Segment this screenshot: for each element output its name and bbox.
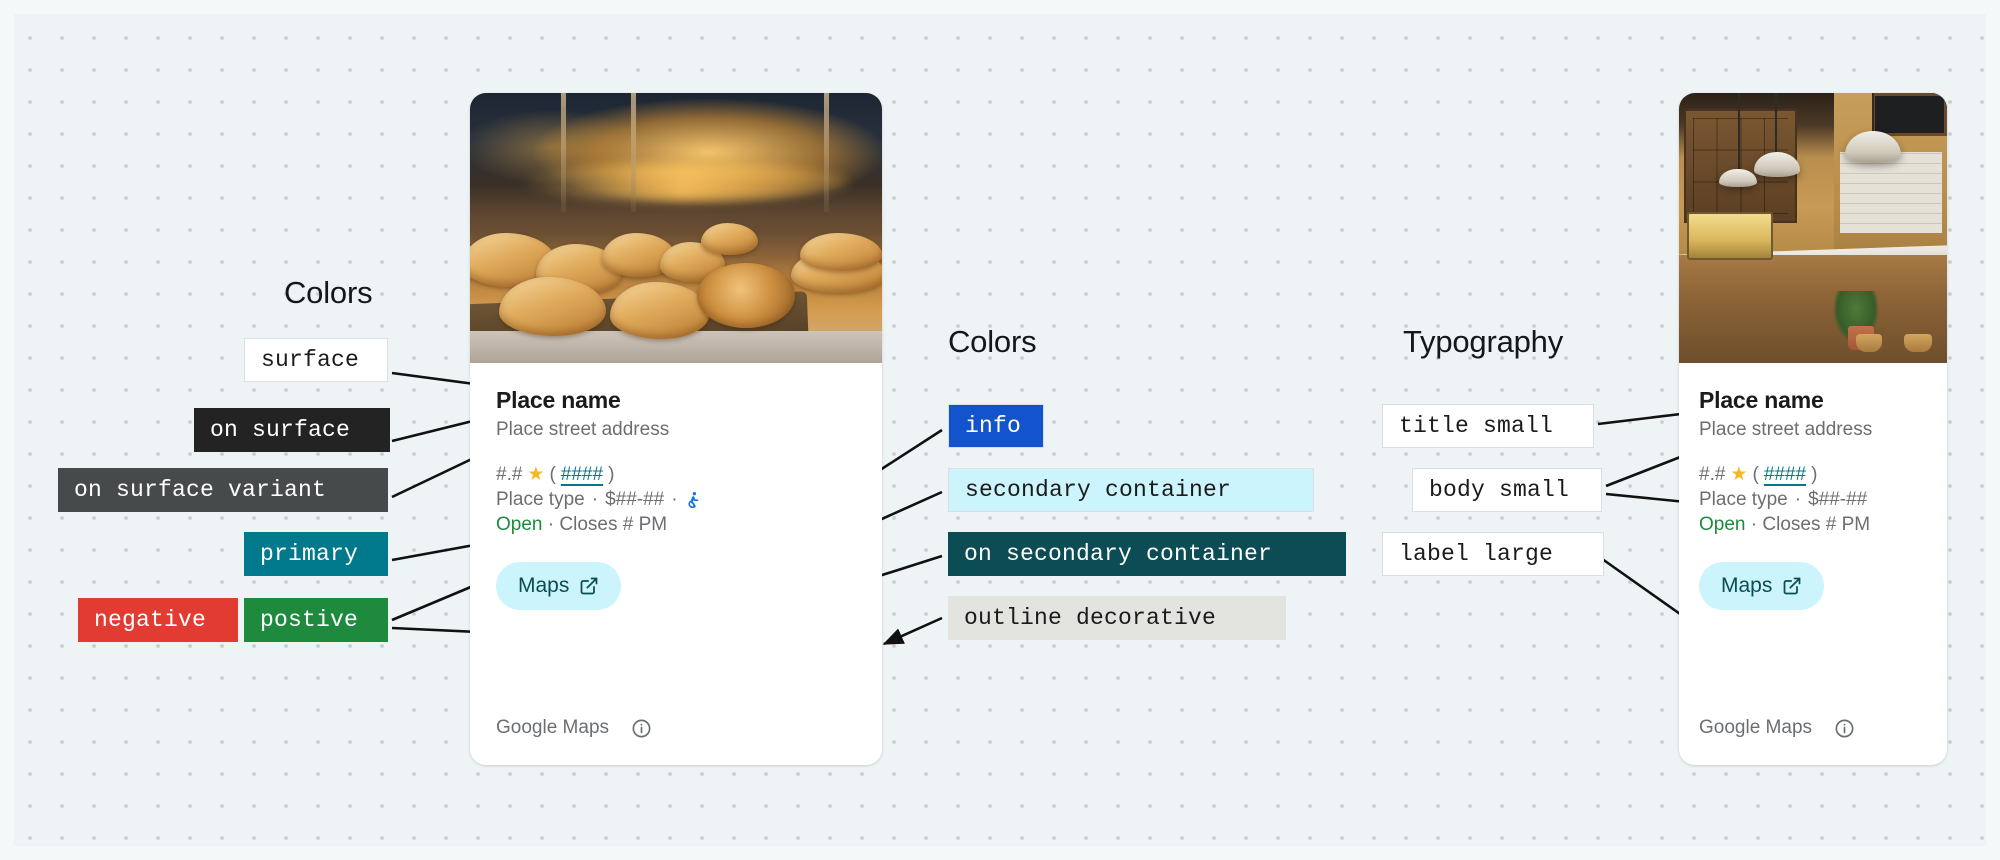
review-close-paren: )	[608, 464, 614, 486]
place-photo-cafe	[1679, 93, 1947, 363]
price-range: $##-##	[1808, 489, 1867, 511]
place-card-footer-right: Google Maps	[1679, 717, 1947, 765]
place-address: Place street address	[1699, 417, 1927, 444]
place-card-body-left: Place name Place street address #.# ★ ( …	[470, 363, 882, 717]
rating-row: #.# ★ ( #### )	[496, 464, 856, 486]
color-chip-outline-decorative[interactable]: outline decorative	[948, 596, 1286, 640]
meta-separator-2: ·	[671, 489, 677, 511]
design-canvas: Colors Colors Typography surface on surf…	[0, 0, 2000, 860]
place-name: Place name	[1699, 387, 1927, 414]
color-chip-on-surface[interactable]: on surface	[194, 408, 390, 452]
review-open-paren: (	[549, 464, 555, 486]
color-chip-on-surface-variant[interactable]: on surface variant	[58, 468, 388, 512]
info-circle-icon[interactable]	[1834, 718, 1855, 739]
section-heading-typography: Typography	[1403, 324, 1563, 360]
color-chip-negative[interactable]: negative	[78, 598, 238, 642]
review-count-link[interactable]: ####	[561, 464, 603, 486]
color-chip-secondary-container[interactable]: secondary container	[948, 468, 1314, 512]
open-status: Open	[496, 514, 542, 535]
closing-time: Closes # PM	[1762, 514, 1870, 535]
star-icon: ★	[1730, 465, 1747, 484]
meta-separator-1: ·	[1795, 489, 1801, 511]
closing-time: Closes # PM	[559, 514, 667, 535]
place-meta-row: Place type · $##-## ·	[496, 489, 856, 511]
place-hours-row: Open · Closes # PM	[496, 514, 856, 536]
typography-chip-label-large[interactable]: label large	[1382, 532, 1604, 576]
place-meta-row: Place type · $##-##	[1699, 489, 1927, 511]
typography-chip-title-small[interactable]: title small	[1382, 404, 1594, 448]
info-circle-icon[interactable]	[631, 718, 652, 739]
section-heading-colors-mid: Colors	[948, 324, 1036, 360]
place-type: Place type	[496, 489, 585, 511]
rating-value: #.#	[1699, 464, 1725, 486]
maps-button-label: Maps	[1721, 574, 1772, 598]
place-hours-row: Open · Closes # PM	[1699, 514, 1927, 536]
meta-separator-1: ·	[592, 489, 598, 511]
external-link-icon	[579, 576, 599, 596]
footer-brand-label: Google Maps	[1699, 717, 1812, 739]
place-card-body-right: Place name Place street address #.# ★ ( …	[1679, 363, 1947, 717]
hours-separator: ·	[1751, 514, 1757, 535]
place-card-left[interactable]: Place name Place street address #.# ★ ( …	[470, 93, 882, 765]
maps-button-label: Maps	[518, 574, 569, 598]
maps-button[interactable]: Maps	[496, 562, 621, 610]
external-link-icon	[1782, 576, 1802, 596]
maps-button[interactable]: Maps	[1699, 562, 1824, 610]
place-card-right[interactable]: Place name Place street address #.# ★ ( …	[1679, 93, 1947, 765]
rating-row: #.# ★ ( #### )	[1699, 464, 1927, 486]
wheelchair-accessible-icon	[685, 491, 703, 509]
review-open-paren: (	[1752, 464, 1758, 486]
review-count-link[interactable]: ####	[1764, 464, 1806, 486]
footer-brand-label: Google Maps	[496, 717, 609, 739]
place-card-footer-left: Google Maps	[470, 717, 882, 765]
place-name: Place name	[496, 387, 856, 414]
place-address: Place street address	[496, 417, 856, 444]
color-chip-info[interactable]: info	[948, 404, 1044, 448]
price-range: $##-##	[605, 489, 664, 511]
color-chip-on-secondary-container[interactable]: on secondary container	[948, 532, 1346, 576]
hours-separator: ·	[548, 514, 554, 535]
color-chip-primary[interactable]: primary	[244, 532, 388, 576]
rating-value: #.#	[496, 464, 522, 486]
star-icon: ★	[527, 465, 544, 484]
place-photo-bakery	[470, 93, 882, 363]
color-chip-positive[interactable]: postive	[244, 598, 388, 642]
typography-chip-body-small[interactable]: body small	[1412, 468, 1602, 512]
place-type: Place type	[1699, 489, 1788, 511]
section-heading-colors-left: Colors	[284, 275, 372, 311]
color-chip-surface[interactable]: surface	[244, 338, 388, 382]
open-status: Open	[1699, 514, 1745, 535]
review-close-paren: )	[1811, 464, 1817, 486]
